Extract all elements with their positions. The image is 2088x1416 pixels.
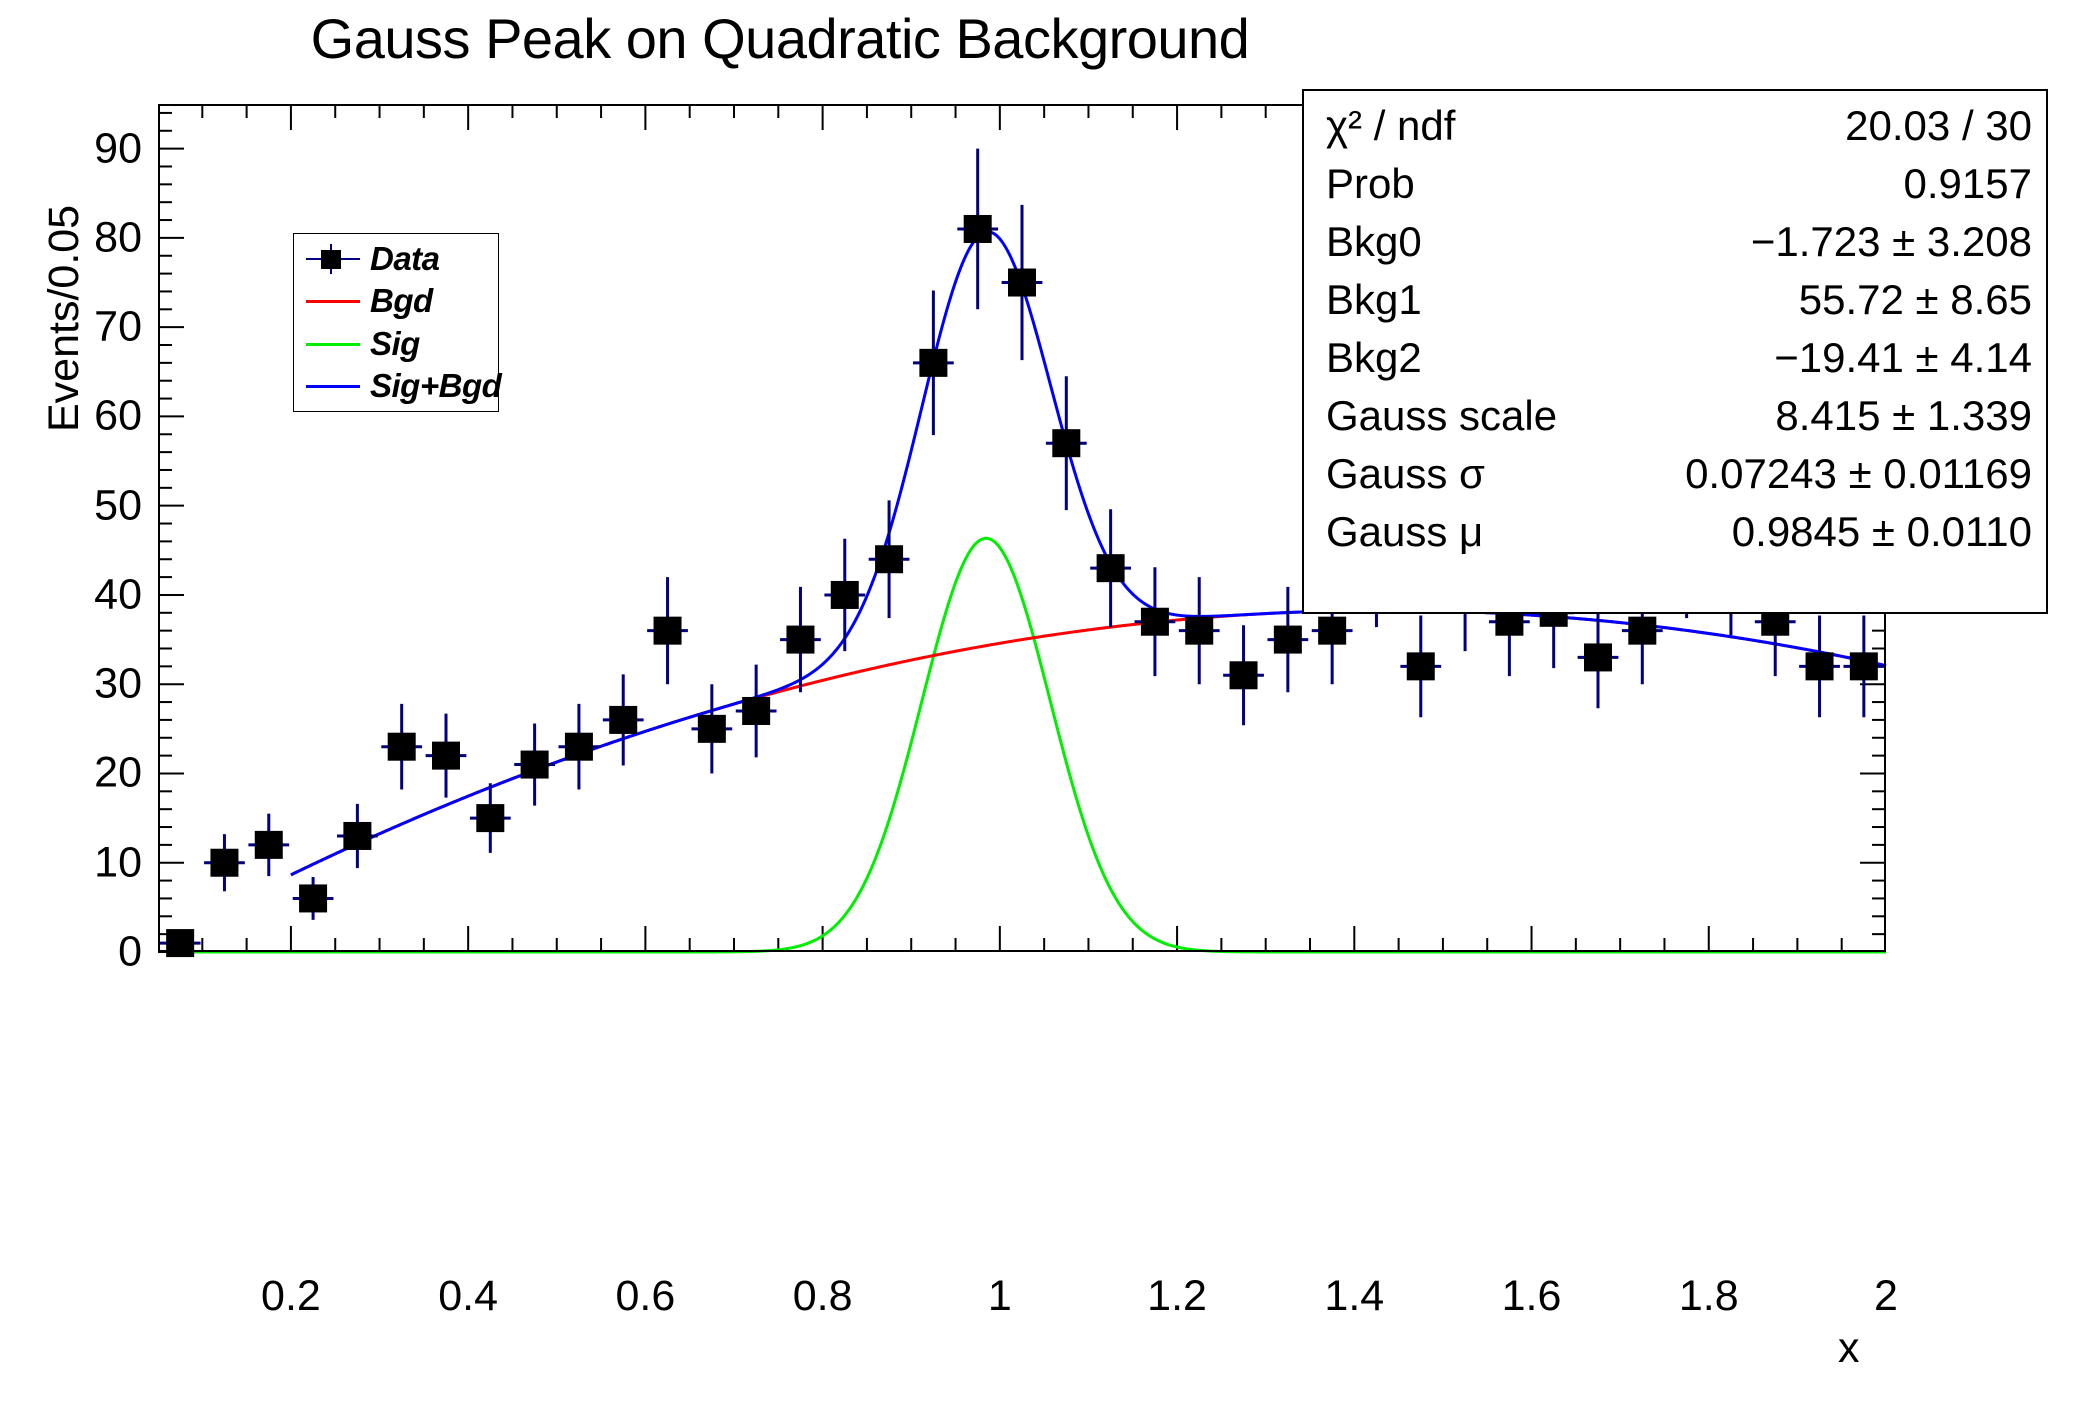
- stats-label: Gauss σ: [1326, 450, 1485, 498]
- x-tick-label: 0.6: [615, 1272, 675, 1321]
- stats-label: Gauss scale: [1326, 392, 1557, 440]
- stats-row: Prob0.9157: [1326, 155, 2032, 213]
- fit-statistics-box: χ² / ndf20.03 / 30Prob0.9157Bkg0−1.723 ±…: [1302, 89, 2048, 614]
- y-axis-tick-labels: 0102030405060708090: [60, 0, 142, 1416]
- legend-item-label: Bgd: [364, 282, 433, 320]
- stats-value: 55.72 ± 8.65: [1799, 276, 2032, 324]
- y-tick-label: 20: [94, 749, 142, 798]
- stats-row: Bkg155.72 ± 8.65: [1326, 271, 2032, 329]
- legend-line-icon: [302, 286, 364, 316]
- stats-label: Gauss μ: [1326, 508, 1483, 556]
- x-axis-tick-labels: 0.20.40.60.811.21.41.61.82: [0, 1272, 2088, 1332]
- x-tick-label: 1.8: [1679, 1272, 1739, 1321]
- legend-item-label: Sig: [364, 325, 420, 363]
- stats-value: 0.9157: [1904, 160, 2032, 208]
- legend-item-label: Sig+Bgd: [364, 367, 501, 405]
- y-tick-label: 0: [118, 928, 142, 977]
- x-tick-label: 1.2: [1147, 1272, 1207, 1321]
- y-tick-label: 10: [94, 838, 142, 887]
- stats-label: Bkg0: [1326, 218, 1422, 266]
- legend-marker-icon: [302, 244, 364, 274]
- legend-item-sig-bgd: Sig+Bgd: [294, 365, 498, 407]
- x-tick-label: 1.4: [1324, 1272, 1384, 1321]
- x-tick-label: 0.4: [438, 1272, 498, 1321]
- legend-item-sig: Sig: [294, 323, 498, 365]
- legend: DataBgdSigSig+Bgd: [293, 233, 499, 412]
- legend-item-bgd: Bgd: [294, 280, 498, 322]
- x-tick-label: 2: [1874, 1272, 1898, 1321]
- y-tick-label: 70: [94, 303, 142, 352]
- legend-line-icon: [302, 329, 364, 359]
- stats-row: Bkg2−19.41 ± 4.14: [1326, 329, 2032, 387]
- y-tick-label: 50: [94, 481, 142, 530]
- stats-label: Bkg1: [1326, 276, 1422, 324]
- y-tick-label: 60: [94, 392, 142, 441]
- stats-row: Gauss μ0.9845 ± 0.0110: [1326, 503, 2032, 561]
- stats-value: 0.07243 ± 0.01169: [1685, 450, 2032, 498]
- stats-label: Prob: [1326, 160, 1415, 208]
- y-tick-label: 30: [94, 660, 142, 709]
- stats-row: Gauss σ0.07243 ± 0.01169: [1326, 445, 2032, 503]
- stats-label: χ² / ndf: [1326, 102, 1455, 150]
- stats-value: −1.723 ± 3.208: [1751, 218, 2032, 266]
- x-tick-label: 1.6: [1502, 1272, 1562, 1321]
- x-tick-label: 1: [988, 1272, 1012, 1321]
- x-tick-label: 0.8: [793, 1272, 853, 1321]
- legend-line-icon: [302, 371, 364, 401]
- stats-value: 8.415 ± 1.339: [1775, 392, 2032, 440]
- stats-row: χ² / ndf20.03 / 30: [1326, 97, 2032, 155]
- x-tick-label: 0.2: [261, 1272, 321, 1321]
- legend-item-data: Data: [294, 238, 498, 280]
- y-tick-label: 90: [94, 124, 142, 173]
- legend-item-label: Data: [364, 240, 440, 278]
- y-tick-label: 40: [94, 570, 142, 619]
- y-tick-label: 80: [94, 213, 142, 262]
- stats-value: −19.41 ± 4.14: [1774, 334, 2032, 382]
- stats-row: Gauss scale8.415 ± 1.339: [1326, 387, 2032, 445]
- root-canvas: Gauss Peak on Quadratic Background Event…: [0, 0, 2088, 1416]
- stats-value: 0.9845 ± 0.0110: [1732, 508, 2032, 556]
- stats-value: 20.03 / 30: [1845, 102, 2032, 150]
- stats-row: Bkg0−1.723 ± 3.208: [1326, 213, 2032, 271]
- stats-label: Bkg2: [1326, 334, 1422, 382]
